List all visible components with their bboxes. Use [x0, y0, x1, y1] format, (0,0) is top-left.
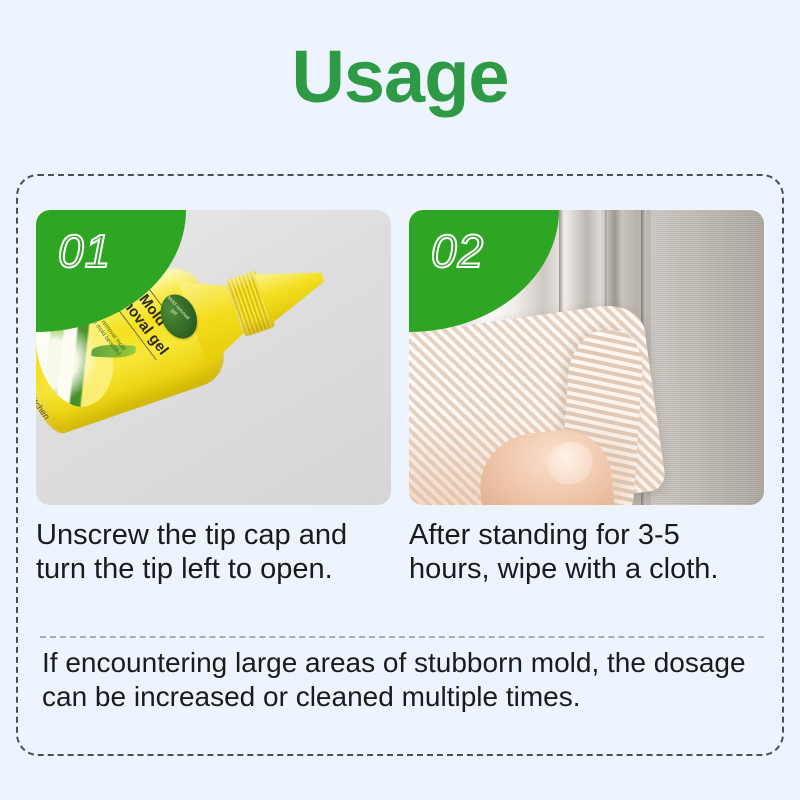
bottle-oval-badge-text: Mold removal gel [161, 295, 190, 325]
step-01-image: Mold removal gel Furnishing removal mold… [36, 210, 391, 505]
step-02-image: 02 [409, 210, 764, 505]
step-02-caption: After standing for 3-5 hours, wipe with … [409, 519, 764, 586]
page-title: Usage [0, 40, 800, 114]
wall-surface [651, 210, 764, 505]
step-card-01: Mold removal gel Furnishing removal mold… [36, 210, 391, 586]
usage-infographic: Usage Mold removal gel [0, 0, 800, 800]
steps-row: Mold removal gel Furnishing removal mold… [36, 210, 764, 586]
step-01-badge-number: 01 [58, 226, 111, 277]
step-01-caption: Unscrew the tip cap and turn the tip lef… [36, 519, 391, 586]
step-02-badge-number: 02 [431, 226, 484, 277]
footer-note: If encountering large areas of stubborn … [42, 646, 768, 713]
footer-divider [40, 636, 764, 638]
step-card-02: 02 After standing for 3-5 hours, wipe wi… [409, 210, 764, 586]
